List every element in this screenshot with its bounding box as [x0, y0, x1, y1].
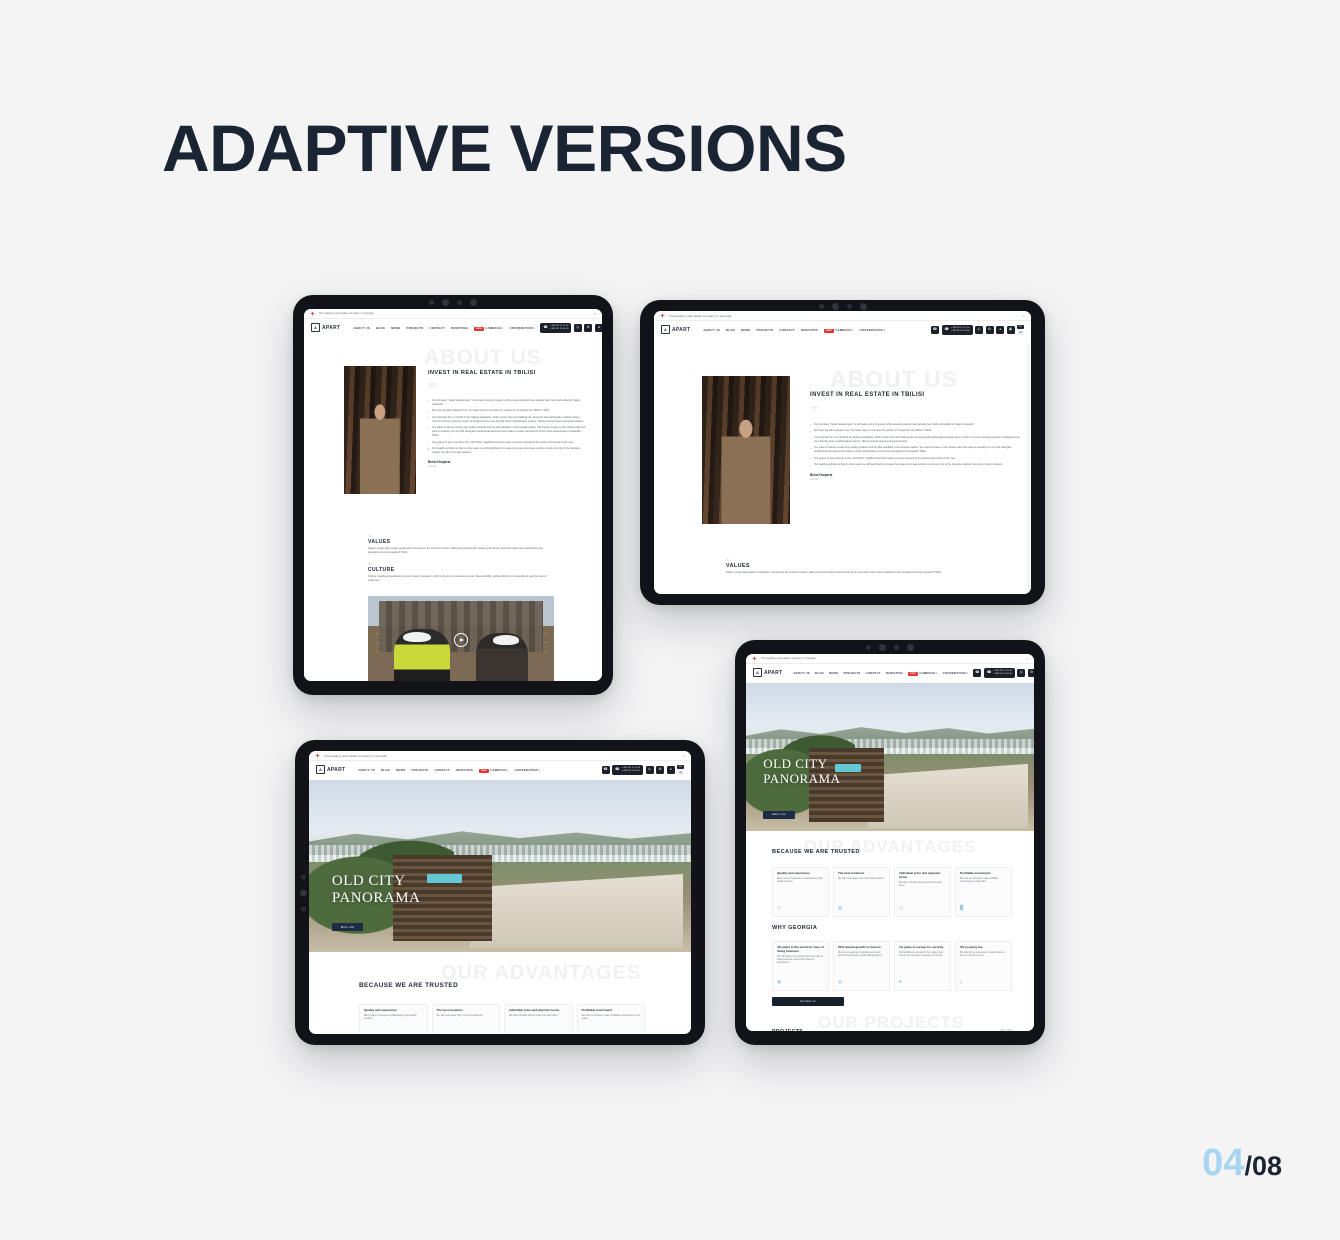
nav-links: ABOUT US BLOG NEWS PROJECTS CONTACT INVE…: [703, 328, 885, 332]
section-number-values: 01: [726, 558, 1016, 562]
about-bullet: We have big plans ahead of us. Our team …: [428, 409, 588, 413]
nav-item-about[interactable]: ABOUT US: [793, 671, 810, 675]
nav-item-news[interactable]: NEWS: [829, 671, 838, 675]
lang-active[interactable]: EN: [1017, 325, 1024, 329]
about-bullet: Our healthy ambition is that in a few ye…: [428, 447, 588, 455]
megaphone-icon[interactable]: ◂: [595, 324, 602, 332]
megaphone-icon[interactable]: ◂: [667, 766, 675, 774]
phone-secondary: + 995 511 11 44 00: [951, 330, 970, 333]
topbar-tagline: The leading real estate company in Georg…: [324, 754, 386, 758]
phone-widget[interactable]: ☎ + 995 322 11 11 44 + 995 511 11 44 00: [942, 325, 973, 335]
section-number-culture: 02: [368, 562, 554, 566]
card-text: We are increasingly consultants and work…: [838, 952, 885, 959]
phone-icon: ☎: [543, 326, 547, 330]
card-title: 1st place in europe for security: [899, 946, 946, 950]
advantage-card[interactable]: Individual price and payment terms We of…: [894, 867, 951, 917]
gear-icon[interactable]: ⚙: [986, 326, 994, 334]
navbar: A APART ABOUT US BLOG NEWS PROJECTS CONT…: [654, 321, 1031, 340]
about-bullet-list: Our company “Apart Development” is still…: [810, 423, 1022, 467]
logo-mark: A: [753, 668, 762, 677]
lang-inactive[interactable]: GE: [677, 770, 684, 774]
topbar: The leading real estate company in Georg…: [304, 309, 602, 319]
why-georgia-heading: WHY GEORGIA: [772, 925, 817, 931]
chevron-right-icon[interactable]: ›: [1007, 1029, 1013, 1031]
founder-photo: [344, 366, 416, 494]
megaphone-icon[interactable]: ◂: [996, 326, 1004, 334]
website-home-portrait: The leading real estate company in Georg…: [746, 654, 1034, 1031]
site-logo[interactable]: A APART: [753, 668, 782, 677]
projects-header: PROJECTS ‹ ›: [772, 1029, 1012, 1031]
projects-nav-arrows: ‹ ›: [1000, 1029, 1013, 1031]
nav-item-cameras-label: CAMERAS: [490, 768, 506, 772]
nav-item-investing[interactable]: INVESTING: [456, 768, 473, 772]
about-heading: INVEST IN REAL ESTATE IN TBILISI: [428, 370, 588, 376]
card-text: Our facilities are located in the region…: [899, 952, 946, 959]
language-switcher[interactable]: EN GE: [677, 765, 684, 775]
nav-item-cameras-label: CAMERAS: [835, 328, 851, 332]
quote-icon: ”: [810, 408, 1022, 418]
scrollbar[interactable]: [1028, 344, 1029, 590]
nav-item-cooperation[interactable]: COOPERATION: [510, 326, 536, 330]
about-bullet: Our goal is to give new life to the “Old…: [428, 441, 588, 445]
tablet-mockup-about-portrait: The leading real estate company in Georg…: [293, 295, 613, 695]
advantage-card[interactable]: The best locations We offer real estate …: [833, 867, 890, 917]
about-bullet: Our company “Apart Development” is still…: [428, 399, 588, 407]
phone-icon: ☎: [987, 671, 991, 675]
advantage-card[interactable]: Quality and experience Many years of exp…: [772, 867, 829, 917]
card-text: Many years of experience guaranteeing hi…: [364, 1015, 423, 1022]
camera-icon[interactable]: ◎: [574, 324, 582, 332]
nav-item-projects[interactable]: PROJECTS: [843, 671, 860, 675]
close-icon[interactable]: ×: [1026, 657, 1028, 661]
phone-icon[interactable]: ☎: [602, 766, 610, 774]
card-title: The best locations: [838, 872, 885, 876]
section-title-culture: CULTURE: [368, 567, 554, 573]
close-icon[interactable]: ×: [683, 754, 685, 758]
nav-right-actions: ☎ ☎ + 995 322 11 11 44 + 995 511 11 44 0…: [973, 668, 1034, 678]
tablet-mockup-home-portrait: The leading real estate company in Georg…: [735, 640, 1045, 1045]
nav-item-cameras[interactable]: NEWCAMERAS: [479, 768, 508, 772]
nav-item-cooperation[interactable]: COOPERATION: [943, 671, 969, 675]
card-text: We offer real estate only in the best lo…: [838, 878, 885, 881]
phone-secondary: + 995 511 11 44 00: [621, 770, 640, 773]
logo-mark: A: [311, 323, 320, 332]
hero-title-line1: OLD CITY: [763, 757, 840, 772]
nav-right-actions: ☎ ☎ + 995 322 11 11 44 + 995 511 11 44 0…: [602, 765, 684, 775]
phone-widget[interactable]: ☎ + 995 322 11 11 44 + 995 511 11 44 00: [540, 323, 571, 333]
about-bullet: It is important for us to build to the h…: [428, 416, 588, 424]
topbar-tagline: The leading real estate company in Georg…: [669, 314, 731, 318]
about-bullet: Our healthy ambition is that in a few ye…: [810, 463, 1022, 467]
nav-item-projects[interactable]: PROJECTS: [756, 328, 773, 332]
card-text: We help our clients to make profitable i…: [582, 1015, 641, 1022]
map-pin-icon: ▦: [838, 906, 885, 910]
card-title: 20% annual growth in tourism: [838, 946, 885, 950]
nav-item-blog[interactable]: BLOG: [381, 768, 390, 772]
logo-text: APART: [672, 327, 690, 333]
nav-item-blog[interactable]: BLOG: [815, 671, 824, 675]
phone-secondary: + 995 511 11 44 00: [993, 673, 1012, 676]
nav-item-investing[interactable]: INVESTING: [886, 671, 903, 675]
language-switcher[interactable]: EN GE: [1017, 325, 1024, 335]
gear-icon[interactable]: ⚙: [584, 324, 592, 332]
about-page-body: ABOUT US INVEST IN REAL ESTATE IN TBILIS…: [304, 338, 602, 681]
topbar: The leading real estate company in Georg…: [309, 751, 691, 761]
advantage-cards: Quality and experience Many years of exp…: [772, 867, 1012, 917]
card-text: Many years of experience guaranteeing hi…: [777, 878, 824, 885]
tablet-camera-row: [429, 299, 477, 306]
topbar: The leading real estate company in Georg…: [654, 311, 1031, 321]
nav-item-blog[interactable]: BLOG: [376, 326, 385, 330]
page-number: 04/08: [1202, 1144, 1282, 1182]
contact-us-button[interactable]: Contact us: [772, 997, 844, 1006]
card-title: Quality and experience: [364, 1009, 423, 1013]
promo-video[interactable]: [368, 596, 554, 681]
phone-icon: ☎: [945, 328, 949, 332]
nav-item-news[interactable]: NEWS: [391, 326, 400, 330]
new-badge: NEW: [479, 769, 489, 773]
nav-item-cooperation[interactable]: COOPERATION: [515, 768, 541, 772]
author-name: Beka Khoperia: [810, 473, 1022, 477]
nav-item-investing[interactable]: INVESTING: [451, 326, 468, 330]
logo-text: APART: [322, 325, 340, 331]
card-text: We offer a flexible pricing system for e…: [899, 882, 946, 889]
new-badge: NEW: [824, 329, 834, 333]
nav-item-about[interactable]: ABOUT US: [703, 328, 720, 332]
hero-more-info-button[interactable]: More info: [763, 811, 795, 819]
section-text-culture: Culture: quality and aesthetics in every…: [368, 575, 554, 583]
author-role: Founder: [428, 465, 588, 468]
tablet-camera-row: [819, 303, 867, 310]
camera-icon[interactable]: ◎: [1017, 669, 1025, 677]
nav-item-about[interactable]: ABOUT US: [353, 326, 370, 330]
card-title: Profitable investment: [960, 872, 1007, 876]
card-title: Individual price and payment terms: [899, 872, 946, 880]
navbar: A APART ABOUT US BLOG NEWS PROJECTS CONT…: [309, 761, 691, 780]
nav-item-cameras-label: CAMERAS: [919, 671, 935, 675]
hero-title-line2: PANORAMA: [763, 772, 840, 787]
nav-links: ABOUT US BLOG NEWS PROJECTS CONTACT INVE…: [793, 671, 968, 675]
nav-right-actions: ☎ ☎ + 995 322 11 11 44 + 995 511 11 44 0…: [931, 325, 1024, 335]
website-home-landscape: The leading real estate company in Georg…: [309, 751, 691, 1034]
hero-title-line1: OLD CITY: [332, 873, 420, 890]
advantage-card[interactable]: The best locations We offer real estate …: [432, 1004, 501, 1034]
page-title: ADAPTIVE VERSIONS: [162, 112, 847, 185]
hero-more-info-button[interactable]: More info: [332, 923, 364, 931]
section-title-values: VALUES: [726, 563, 1016, 569]
why-georgia-card[interactable]: 4th place in the world for ease of doing…: [772, 941, 829, 991]
hero-banner: OLD CITY PANORAMA More info: [746, 683, 1034, 831]
nav-item-blog[interactable]: BLOG: [726, 328, 735, 332]
grid-icon[interactable]: ▣: [1007, 326, 1015, 334]
topbar-tagline: The leading real estate company in Georg…: [761, 657, 816, 660]
about-bullet-list: Our company “Apart Development” is still…: [428, 399, 588, 455]
nav-item-investing[interactable]: INVESTING: [801, 328, 818, 332]
globe-icon: ▣: [777, 980, 824, 984]
tablet-screen: The leading real estate company in Georg…: [746, 654, 1034, 1031]
shield-icon: ■: [899, 980, 946, 984]
nav-item-projects[interactable]: PROJECTS: [406, 326, 423, 330]
card-title: Profitable investment: [582, 1009, 641, 1013]
star-icon: [315, 753, 320, 758]
camera-icon[interactable]: ◎: [646, 766, 654, 774]
card-text: The 4th place in the world in terms of e…: [777, 956, 824, 966]
home-page-body: OLD CITY PANORAMA More info OUR ADVANTAG…: [309, 780, 691, 1034]
phone-icon[interactable]: ☎: [973, 669, 981, 677]
close-icon[interactable]: ×: [1023, 314, 1025, 318]
card-text: We help our clients to make profitable i…: [960, 878, 1007, 885]
card-text: We help to buy real estate in regions wh…: [960, 952, 1007, 959]
logo-text: APART: [764, 670, 782, 676]
home-content: OUR ADVANTAGES BECAUSE WE ARE TRUSTED Qu…: [746, 831, 1034, 1031]
navbar: A APART ABOUT US BLOG NEWS PROJECTS CONT…: [746, 664, 1034, 683]
about-heading: INVEST IN REAL ESTATE IN TBILISI: [810, 392, 1022, 398]
projects-heading: PROJECTS: [772, 1029, 803, 1031]
nav-right-actions: ☎ + 995 322 11 11 44 + 995 511 11 44 00 …: [540, 323, 602, 333]
hero-title: OLD CITY PANORAMA: [763, 757, 840, 786]
page-number-current: 04: [1202, 1142, 1244, 1184]
about-bullet: Our value is that we create only quality…: [428, 426, 588, 438]
site-logo[interactable]: A APART: [311, 323, 340, 332]
award-icon: ♔: [777, 906, 824, 910]
card-text: We offer real estate only in the best lo…: [437, 1015, 496, 1018]
section-text-values: Values: create high-quality construction…: [726, 571, 1016, 575]
logo-mark: A: [316, 765, 325, 774]
star-icon: [752, 656, 757, 661]
hero-title-line2: PANORAMA: [332, 890, 420, 907]
founder-photo: [702, 376, 790, 524]
advantage-cards: Quality and experience Many years of exp…: [359, 1004, 645, 1034]
star-icon: [660, 313, 665, 318]
star-icon: [310, 311, 315, 316]
tablet-camera-row: [300, 874, 307, 911]
ghost-heading-about: ABOUT US: [830, 366, 958, 393]
topbar-tagline: The leading real estate company in Georg…: [319, 312, 374, 315]
section-title-values: VALUES: [368, 539, 554, 545]
chevron-left-icon[interactable]: ‹: [1000, 1029, 1006, 1031]
nav-item-cooperation[interactable]: COOPERATION: [860, 328, 886, 332]
advantage-card[interactable]: Profitable investment We help our client…: [955, 867, 1012, 917]
advantage-card[interactable]: Quality and experience Many years of exp…: [359, 1004, 428, 1034]
new-badge: NEW: [908, 672, 918, 676]
nav-item-news[interactable]: NEWS: [396, 768, 405, 772]
advantages-heading: BECAUSE WE ARE TRUSTED: [359, 982, 458, 989]
why-georgia-cards: 4th place in the world for ease of doing…: [772, 941, 1012, 991]
advantage-card[interactable]: Profitable investment We help our client…: [577, 1004, 646, 1034]
about-bullet: We have big plans ahead of us. Our team …: [810, 429, 1022, 433]
ghost-heading-advantages: OUR ADVANTAGES: [441, 962, 641, 985]
topbar: The leading real estate company in Georg…: [746, 654, 1034, 664]
nav-item-cameras[interactable]: NEWCAMERAS: [474, 326, 503, 330]
phone-widget[interactable]: ☎ + 995 322 11 11 44 + 995 511 11 44 00: [612, 765, 643, 775]
phone-widget[interactable]: ☎ + 995 322 11 11 44 + 995 511 11 44 00: [984, 668, 1015, 678]
logo-mark: A: [661, 325, 670, 334]
card-text: We offer a flexible pricing system for e…: [509, 1015, 568, 1018]
advantage-card[interactable]: Individual price and payment terms We of…: [504, 1004, 573, 1034]
card-title: The best locations: [437, 1009, 496, 1013]
tablet-screen: The leading real estate company in Georg…: [304, 309, 602, 681]
nav-item-about[interactable]: ABOUT US: [358, 768, 375, 772]
site-logo[interactable]: A APART: [661, 325, 690, 334]
nav-links: ABOUT US BLOG NEWS PROJECTS CONTACT INVE…: [353, 326, 535, 330]
phone-icon[interactable]: ☎: [931, 326, 939, 334]
nav-item-cameras-label: CAMERAS: [485, 326, 501, 330]
why-georgia-card[interactable]: 1st place in europe for security Our fac…: [894, 941, 951, 991]
section-number-values: 01: [368, 534, 554, 538]
nav-item-contact[interactable]: CONTACT: [430, 326, 445, 330]
tablet-screen: The leading real estate company in Georg…: [309, 751, 691, 1034]
site-logo[interactable]: A APART: [316, 765, 345, 774]
close-icon[interactable]: ×: [594, 312, 596, 316]
trend-icon: ▧: [838, 980, 885, 984]
page-number-total: /08: [1244, 1151, 1282, 1181]
card-title: Quality and experience: [777, 872, 824, 876]
lang-active[interactable]: EN: [677, 765, 684, 769]
card-title: 4th place in the world for ease of doing…: [777, 946, 824, 954]
hero-banner: OLD CITY PANORAMA More info: [309, 780, 691, 952]
nav-item-contact[interactable]: CONTACT: [780, 328, 795, 332]
why-georgia-card[interactable]: 20% annual growth in tourism We are incr…: [833, 941, 890, 991]
ghost-heading-about: ABOUT US: [424, 346, 542, 370]
phone-secondary: + 995 511 11 44 00: [550, 328, 569, 331]
gear-icon[interactable]: ⚙: [656, 766, 664, 774]
logo-text: APART: [327, 767, 345, 773]
lang-inactive[interactable]: GE: [1017, 330, 1024, 334]
about-bullet: It is important for us to build to the h…: [810, 436, 1022, 444]
nav-item-cameras[interactable]: NEWCAMERAS: [908, 671, 937, 675]
why-georgia-card[interactable]: 0% property tax We help to buy real esta…: [955, 941, 1012, 991]
about-page-body: ABOUT US INVEST IN REAL ESTATE IN TBILIS…: [654, 340, 1031, 594]
advantages-heading: BECAUSE WE ARE TRUSTED: [772, 849, 860, 855]
about-bullet: Our value is that we create only quality…: [810, 446, 1022, 454]
advantages-section: OUR ADVANTAGES BECAUSE WE ARE TRUSTED Qu…: [309, 952, 691, 1034]
phone-icon: ☎: [615, 768, 619, 772]
nav-item-cameras[interactable]: NEWCAMERAS: [824, 328, 853, 332]
tablet-screen: The leading real estate company in Georg…: [654, 311, 1031, 594]
play-icon[interactable]: [454, 633, 468, 647]
website-about-portrait: The leading real estate company in Georg…: [304, 309, 602, 681]
camera-icon[interactable]: ◎: [975, 326, 983, 334]
tablet-camera-row: [866, 644, 914, 651]
about-bullet: Our goal is to give new life to the “Old…: [810, 457, 1022, 461]
website-about-landscape: The leading real estate company in Georg…: [654, 311, 1031, 594]
section-text-values: Values: create high-quality construction…: [368, 547, 554, 555]
nav-item-news[interactable]: NEWS: [741, 328, 750, 332]
hero-title: OLD CITY PANORAMA: [332, 873, 420, 907]
wallet-icon: ◫: [899, 906, 946, 910]
nav-item-projects[interactable]: PROJECTS: [411, 768, 428, 772]
gear-icon[interactable]: ⚙: [1028, 669, 1034, 677]
author-role: Founder: [810, 478, 1022, 481]
quote-icon: ”: [428, 385, 588, 395]
card-title: 0% property tax: [960, 946, 1007, 950]
chart-icon: ▉: [960, 906, 1007, 910]
about-bullet: Our company “Apart Development” is still…: [810, 423, 1022, 427]
author-name: Beka Khoperia: [428, 460, 588, 464]
nav-item-contact[interactable]: CONTACT: [435, 768, 450, 772]
navbar: A APART ABOUT US BLOG NEWS PROJECTS CONT…: [304, 319, 602, 338]
nav-links: ABOUT US BLOG NEWS PROJECTS CONTACT INVE…: [358, 768, 540, 772]
home-page-body: OLD CITY PANORAMA More info OUR ADVANTAG…: [746, 683, 1034, 1031]
tablet-mockup-home-landscape: The leading real estate company in Georg…: [295, 740, 705, 1045]
nav-item-contact[interactable]: CONTACT: [866, 671, 881, 675]
tax-icon: ▯: [960, 980, 1007, 984]
tablet-mockup-about-landscape: The leading real estate company in Georg…: [640, 300, 1045, 605]
card-title: Individual price and payment terms: [509, 1009, 568, 1013]
new-badge: NEW: [474, 327, 484, 331]
